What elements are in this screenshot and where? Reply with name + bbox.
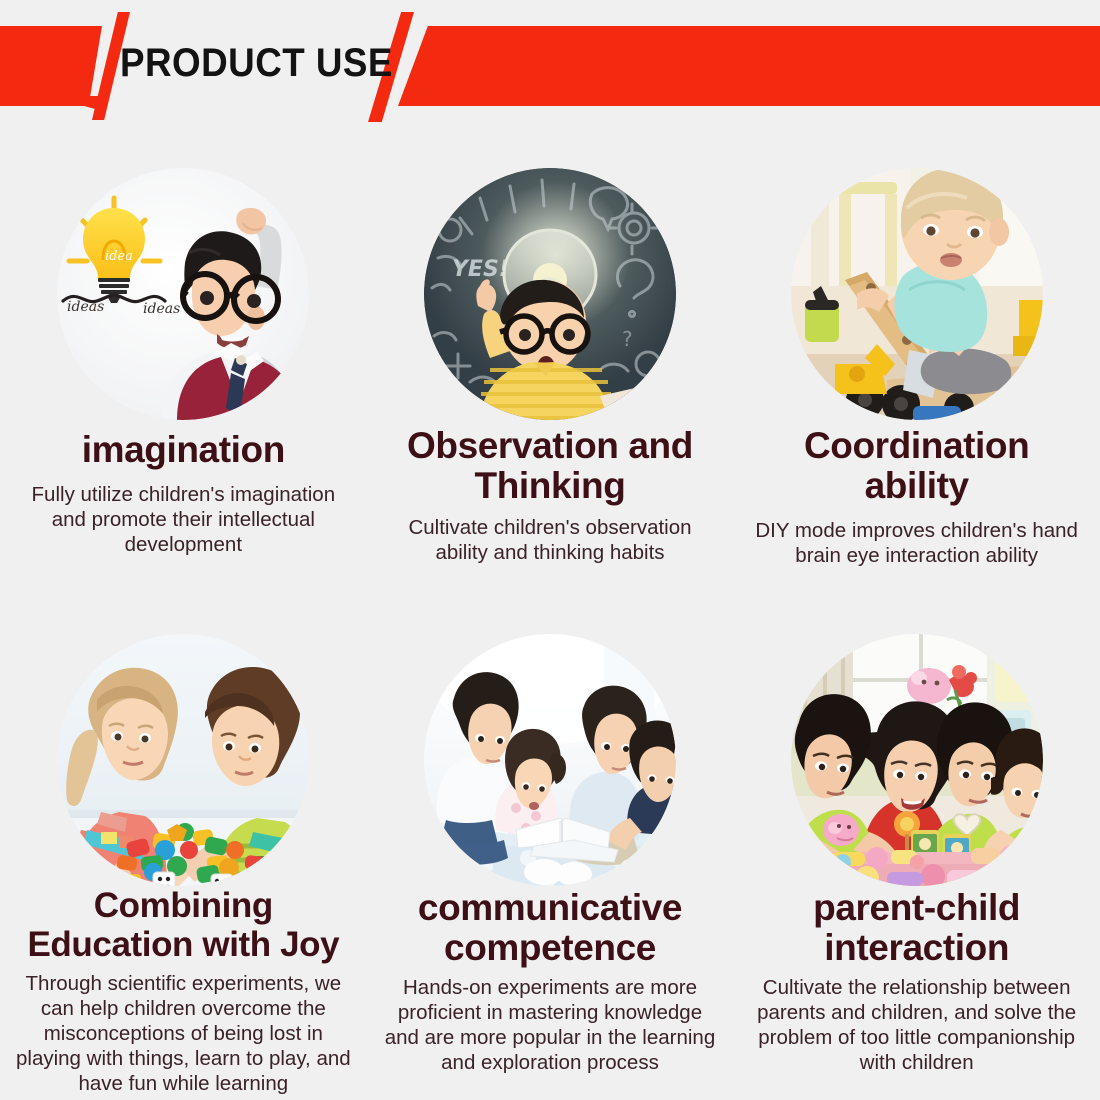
banner-right-bar-shape <box>398 26 1100 106</box>
feature-title: Coordination ability <box>752 426 1082 506</box>
feature-image-family-reading-books-on-carpet <box>424 634 676 886</box>
page-header-banner: PRODUCT USE <box>0 0 1100 130</box>
feature-description: Cultivate children's observation ability… <box>381 515 720 565</box>
feature-image-boy-with-lightbulb-ideas: ideas ideas idea <box>57 168 309 420</box>
svg-text:idea: idea <box>105 249 133 264</box>
feature-title: communicative competence <box>385 888 715 968</box>
product-use-feature-grid: ideas ideas idea <box>0 130 1100 1096</box>
feature-card-coordination-ability: Coordination ability DIY mode improves c… <box>733 168 1100 632</box>
feature-image-parents-and-children-playing-at-table <box>791 634 1043 886</box>
svg-text:YES!: YES! <box>452 257 509 282</box>
feature-card-imagination: ideas ideas idea <box>0 168 367 632</box>
feature-image-toddler-playing-wooden-crane-toy <box>791 168 1043 420</box>
feature-image-boy-pointing-at-chalkboard-lightbulb: YES! ? <box>424 168 676 420</box>
feature-title: Combining Education with Joy <box>18 886 348 964</box>
feature-card-parent-child-interaction: parent-child interaction Cultivate the r… <box>733 634 1100 1096</box>
feature-description: Through scientific experiments, we can h… <box>14 971 353 1096</box>
feature-card-combining-education-with-joy: Combining Education with Joy Through sci… <box>0 634 367 1096</box>
feature-card-observation-and-thinking: YES! ? <box>367 168 734 632</box>
feature-description: Fully utilize children's imagination and… <box>14 482 353 557</box>
page-title: PRODUCT USE <box>120 41 393 85</box>
svg-text:ideas: ideas <box>67 299 104 315</box>
svg-text:ideas: ideas <box>143 301 180 317</box>
feature-image-two-children-playing-colorful-blocks <box>57 634 309 886</box>
feature-title: Observation and Thinking <box>385 426 715 506</box>
svg-text:?: ? <box>622 327 633 351</box>
feature-description: DIY mode improves children's hand brain … <box>747 518 1086 568</box>
feature-title: parent-child interaction <box>752 888 1082 968</box>
banner-left-flag-shape <box>0 26 102 106</box>
feature-title: imagination <box>82 430 285 470</box>
feature-description: Cultivate the relationship between paren… <box>747 975 1086 1075</box>
feature-description: Hands-on experiments are more proficient… <box>381 975 720 1075</box>
feature-card-communicative-competence: communicative competence Hands-on experi… <box>367 634 734 1096</box>
